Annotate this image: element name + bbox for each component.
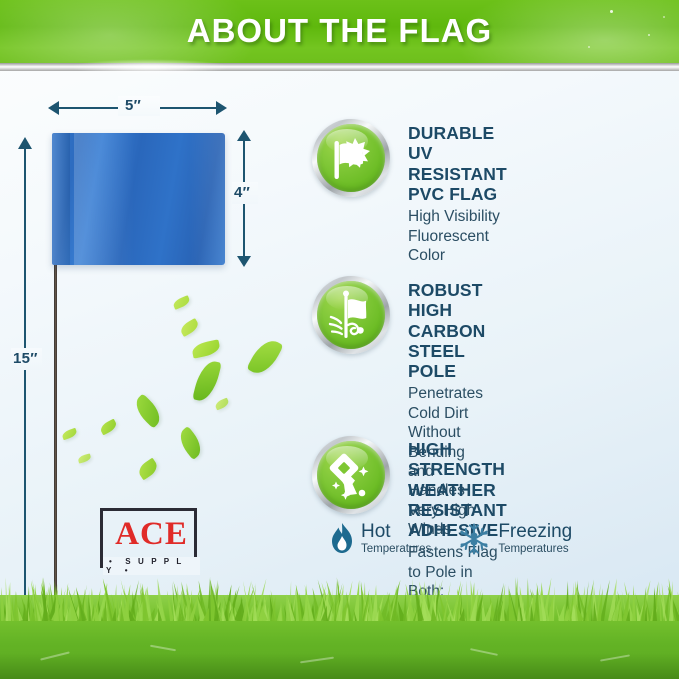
grass-blade — [615, 598, 617, 621]
infographic-page: ABOUT THE FLAG 5″ 4″ 15″ ACE • — [0, 0, 679, 679]
leaf-icon — [130, 393, 166, 428]
chrome-highlight — [60, 58, 240, 76]
leaf-icon — [99, 419, 119, 436]
feature-badge-3 — [312, 436, 390, 514]
badge-inner-circle — [317, 124, 385, 192]
logo-tagline-text: • S U P P L Y • — [103, 557, 200, 575]
leaf-icon — [192, 358, 222, 404]
feature-text-1: DURABLE UV RESISTANT PVC FLAG High Visib… — [408, 123, 507, 265]
grass-blade — [13, 591, 19, 621]
grass-blade — [103, 600, 108, 621]
grass-blade — [252, 590, 257, 621]
grass-blade — [372, 585, 379, 621]
grass-blade — [534, 585, 540, 621]
grass-blade — [572, 607, 577, 621]
temperature-hot-text: Hot Temperatures — [361, 522, 431, 556]
leaf-icon — [246, 335, 283, 379]
leaf-icon — [172, 295, 191, 310]
grass-blade — [631, 585, 636, 621]
page-title: ABOUT THE FLAG — [0, 0, 679, 64]
feature-subtitle: High Visibility Fluorescent Color — [408, 207, 507, 265]
flag-highlight — [74, 133, 134, 265]
width-arrow-right-icon — [216, 101, 227, 115]
grass-blade — [0, 587, 5, 621]
grass-shadow — [0, 653, 679, 679]
height-label: 4″ — [234, 184, 250, 201]
grass-blade — [55, 594, 59, 621]
grass-blade-fringe — [0, 575, 679, 621]
grass-wisp — [150, 645, 176, 651]
total-height-arrow-up-icon — [18, 137, 32, 149]
blue-flag — [52, 133, 225, 265]
grass-blade — [304, 584, 309, 621]
logo-bullet-left: • — [106, 557, 117, 566]
width-label: 5″ — [125, 97, 141, 114]
badge-inner-circle — [317, 441, 385, 509]
leaf-icon — [179, 318, 201, 337]
flag-fold-shading — [52, 133, 70, 265]
grass-blade — [526, 578, 530, 621]
temperature-row: Hot Temperatures Freezing Temperatur — [330, 522, 675, 556]
temperature-item-hot: Hot Temperatures — [330, 522, 431, 556]
adhesive-glue-icon — [317, 441, 385, 509]
temperature-label: Freezing — [498, 522, 572, 541]
leaf-icon — [136, 458, 160, 481]
header-banner: ABOUT THE FLAG — [0, 0, 679, 64]
total-height-label: 15″ — [13, 350, 38, 367]
temperature-item-freezing: Freezing Temperatures — [457, 522, 572, 556]
flag-pole — [54, 258, 57, 618]
flag-pole-wind-icon — [317, 281, 385, 349]
logo-bullet-right: • — [122, 566, 133, 575]
feature-badge-2 — [312, 276, 390, 354]
feature-title: DURABLE UV RESISTANT PVC FLAG — [408, 123, 507, 204]
temperature-sublabel: Temperatures — [498, 543, 572, 556]
grass-blade — [517, 606, 521, 621]
logo-tagline: S U P P L Y — [106, 557, 184, 575]
leaf-icon — [175, 426, 207, 460]
feature-badge-1 — [312, 119, 390, 197]
flag-sun-icon — [317, 124, 385, 192]
leaf-icon — [191, 339, 221, 359]
leaf-icon — [214, 397, 230, 410]
height-arrow-down-icon — [237, 256, 251, 267]
width-arrow-left-icon — [48, 101, 59, 115]
temperature-sublabel: Temperatures — [361, 543, 431, 556]
feature-title: ROBUST HIGH CARBON STEEL POLE — [408, 280, 485, 381]
flame-icon — [330, 522, 354, 554]
logo-tagline-wrap: • S U P P L Y • — [103, 558, 200, 574]
total-height-dimension-line — [24, 148, 26, 616]
height-arrow-up-icon — [237, 130, 251, 141]
leaf-icon — [77, 453, 91, 463]
ace-supply-logo: ACE • S U P P L Y • — [100, 508, 197, 568]
temperature-freezing-text: Freezing Temperatures — [498, 522, 572, 556]
grass-blade — [124, 605, 131, 621]
temperature-label: Hot — [361, 522, 431, 541]
grass-blade — [652, 587, 657, 621]
logo-brand-text: ACE — [103, 512, 200, 556]
snowflake-icon — [457, 522, 491, 556]
grass-blade — [178, 607, 182, 621]
grass-blade — [317, 604, 321, 621]
leaf-icon — [61, 428, 78, 441]
flag-sheen — [189, 133, 225, 265]
badge-inner-circle — [317, 281, 385, 349]
